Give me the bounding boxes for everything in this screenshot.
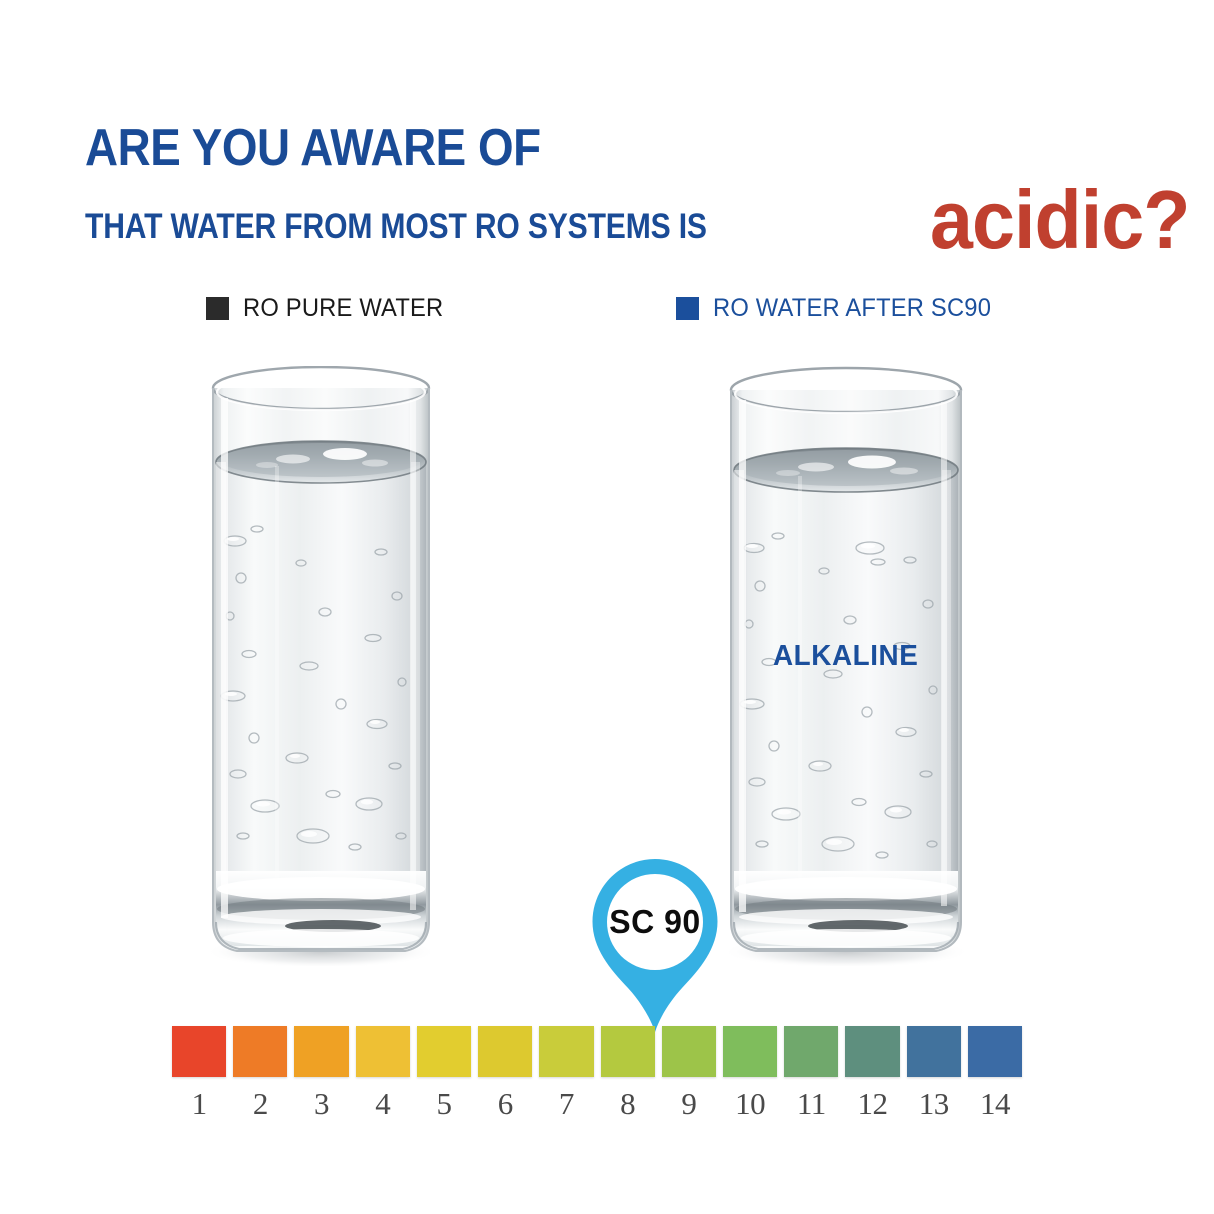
ph-number-12: 12	[858, 1088, 888, 1119]
legend-swatch-dark	[206, 297, 229, 320]
legend-swatch-blue	[676, 297, 699, 320]
ph-swatch-row: 1234567891011121314	[172, 1026, 1022, 1119]
ph-cell-1: 1	[172, 1026, 226, 1119]
legend-label-ro-water-after-sc90: RO WATER AFTER SC90	[713, 294, 991, 323]
ph-swatch-14	[968, 1026, 1022, 1077]
ph-cell-7: 7	[539, 1026, 593, 1119]
ph-swatch-7	[539, 1026, 593, 1077]
ph-swatch-13	[907, 1026, 961, 1077]
ph-swatch-9	[662, 1026, 716, 1077]
ph-swatch-10	[723, 1026, 777, 1077]
alkaline-label: ALKALINE	[773, 640, 918, 673]
ph-cell-9: 9	[662, 1026, 716, 1119]
ph-cell-11: 11	[784, 1026, 838, 1119]
ph-number-1: 1	[192, 1088, 207, 1119]
ph-scale: 1234567891011121314	[172, 1026, 1022, 1119]
headline-line-2: THAT WATER FROM MOST RO SYSTEMS IS	[85, 208, 707, 246]
headline-line-2-row: THAT WATER FROM MOST RO SYSTEMS IS acidi…	[85, 182, 1145, 252]
ph-cell-5: 5	[417, 1026, 471, 1119]
ph-number-5: 5	[436, 1088, 451, 1119]
ph-cell-14: 14	[968, 1026, 1022, 1119]
glass-left-illustration	[205, 366, 437, 966]
ph-number-2: 2	[253, 1088, 268, 1119]
ph-swatch-11	[784, 1026, 838, 1077]
ph-number-14: 14	[980, 1088, 1010, 1119]
headline-line-1: ARE YOU AWARE OF	[85, 120, 1018, 176]
ph-number-7: 7	[559, 1088, 574, 1119]
ph-number-8: 8	[620, 1088, 635, 1119]
ph-cell-4: 4	[356, 1026, 410, 1119]
glass-base-left	[216, 871, 426, 949]
ph-number-10: 10	[735, 1088, 765, 1119]
legend-item-ro-water-after-sc90: RO WATER AFTER SC90	[676, 294, 1006, 323]
ph-cell-3: 3	[294, 1026, 348, 1119]
ph-cell-8: 8	[601, 1026, 655, 1119]
ph-swatch-12	[845, 1026, 899, 1077]
ph-number-3: 3	[314, 1088, 329, 1119]
ph-cell-10: 10	[723, 1026, 777, 1119]
ph-swatch-2	[233, 1026, 287, 1077]
ph-cell-6: 6	[478, 1026, 532, 1119]
headline-accent-acidic: acidic?	[930, 178, 1189, 261]
ph-swatch-8	[601, 1026, 655, 1077]
ph-number-4: 4	[375, 1088, 390, 1119]
ph-number-9: 9	[681, 1088, 696, 1119]
headline-block: ARE YOU AWARE OF THAT WATER FROM MOST RO…	[85, 120, 1145, 252]
map-pin-icon	[588, 856, 722, 1036]
ph-swatch-5	[417, 1026, 471, 1077]
legend-item-ro-pure-water: RO PURE WATER	[206, 294, 454, 323]
ph-number-11: 11	[797, 1088, 826, 1119]
legend-label-ro-pure-water: RO PURE WATER	[243, 294, 443, 323]
sc90-marker-pin[interactable]: SC 90	[588, 856, 722, 1036]
ph-swatch-6	[478, 1026, 532, 1077]
ph-cell-2: 2	[233, 1026, 287, 1119]
ph-number-6: 6	[498, 1088, 513, 1119]
ph-swatch-3	[294, 1026, 348, 1077]
glass-ro-pure-water	[205, 366, 437, 966]
ph-number-13: 13	[919, 1088, 949, 1119]
glass-base-right	[734, 871, 958, 949]
ph-swatch-4	[356, 1026, 410, 1077]
ph-cell-12: 12	[845, 1026, 899, 1119]
ph-swatch-1	[172, 1026, 226, 1077]
ph-cell-13: 13	[907, 1026, 961, 1119]
